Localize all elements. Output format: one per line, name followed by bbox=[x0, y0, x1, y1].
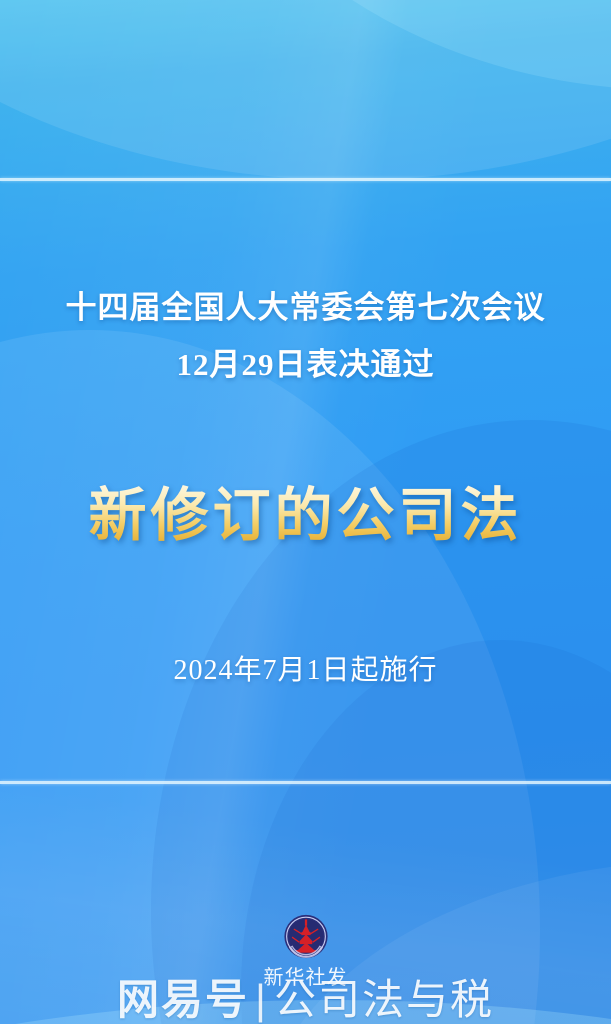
effective-date-text: 2024年7月1日起施行 bbox=[0, 648, 611, 688]
divider-rule-top bbox=[0, 178, 611, 181]
poster-image: 十四届全国人大常委会第七次会议 12月29日表决通过 新修订的公司法 2024年… bbox=[0, 0, 611, 1024]
divider-rule-bottom bbox=[0, 781, 611, 784]
watermark-brand: 网易号 bbox=[117, 976, 249, 1023]
xinhua-emblem-icon bbox=[283, 914, 328, 959]
watermark-account: 公司法与税 bbox=[274, 976, 494, 1023]
netease-watermark: 网易号|公司法与税 bbox=[0, 966, 611, 1024]
heading-line-1: 十四届全国人大常委会第七次会议 bbox=[0, 284, 611, 332]
page-title: 新修订的公司法 bbox=[0, 468, 611, 552]
heading-line-2: 12月29日表决通过 bbox=[0, 341, 611, 389]
watermark-separator: | bbox=[249, 976, 274, 1023]
